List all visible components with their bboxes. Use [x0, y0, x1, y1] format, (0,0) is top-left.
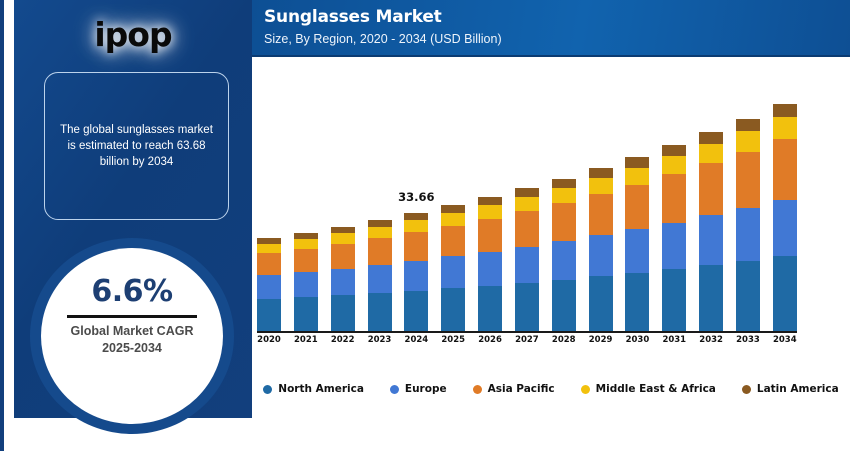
legend-color-dot	[581, 385, 590, 394]
bar-segment[interactable]	[404, 232, 428, 261]
x-axis-tick: 2032	[699, 335, 723, 345]
page-subtitle: Size, By Region, 2020 - 2034 (USD Billio…	[264, 32, 850, 46]
bar-segment[interactable]	[441, 213, 465, 226]
bar-segment[interactable]	[589, 168, 613, 178]
x-axis-tick: 2020	[257, 335, 281, 345]
bar-segment[interactable]	[368, 227, 392, 238]
bar-series-group: 33.66	[257, 80, 797, 331]
chart-header: Sunglasses Market Size, By Region, 2020 …	[252, 0, 850, 57]
bar-segment[interactable]	[699, 215, 723, 264]
bar-column[interactable]	[515, 80, 539, 331]
logo-text: ipop	[94, 15, 171, 54]
legend-color-dot	[473, 385, 482, 394]
bar-segment[interactable]	[773, 200, 797, 256]
bar-segment[interactable]	[699, 265, 723, 331]
legend-label: Middle East & Africa	[596, 383, 716, 395]
legend-item[interactable]: North America	[263, 383, 364, 395]
bar-segment[interactable]	[441, 205, 465, 213]
bar-segment[interactable]	[699, 144, 723, 163]
bar-column[interactable]	[625, 80, 649, 331]
bar-segment[interactable]	[368, 238, 392, 265]
legend-item[interactable]: Middle East & Africa	[581, 383, 716, 395]
legend-label: Asia Pacific	[488, 383, 555, 395]
bar-segment[interactable]	[515, 188, 539, 197]
bar-column[interactable]	[257, 80, 281, 331]
page-title: Sunglasses Market	[264, 7, 850, 27]
bar-segment[interactable]	[404, 220, 428, 232]
bar-segment[interactable]	[589, 178, 613, 194]
bar-segment[interactable]	[625, 157, 649, 167]
bar-segment[interactable]	[368, 293, 392, 331]
cagr-card: 6.6% Global Market CAGR 2025-2034	[41, 248, 223, 424]
bar-segment[interactable]	[404, 213, 428, 220]
bar-segment[interactable]	[331, 227, 355, 234]
bar-segment[interactable]	[257, 244, 281, 253]
bar-segment[interactable]	[368, 265, 392, 293]
bar-segment[interactable]	[441, 288, 465, 331]
bar-segment[interactable]	[773, 104, 797, 117]
bar-segment[interactable]	[552, 280, 576, 331]
bar-segment[interactable]	[294, 272, 318, 297]
bar-segment[interactable]	[331, 244, 355, 269]
legend-label: North America	[278, 383, 364, 395]
bar-segment[interactable]	[478, 219, 502, 252]
x-axis-tick: 2034	[773, 335, 797, 345]
callout-text: The global sunglasses market is estimate…	[55, 122, 218, 170]
infographic-root: ipop The global sunglasses market is est…	[0, 0, 850, 451]
bar-segment[interactable]	[478, 286, 502, 331]
bar-segment[interactable]	[625, 229, 649, 273]
legend-label: Latin America	[757, 383, 839, 395]
x-axis-tick: 2031	[662, 335, 686, 345]
bar-column[interactable]	[773, 80, 797, 331]
bar-segment[interactable]	[589, 235, 613, 276]
bar-segment[interactable]	[478, 205, 502, 218]
bar-column[interactable]	[441, 80, 465, 331]
legend-color-dot	[390, 385, 399, 394]
bar-segment[interactable]	[478, 197, 502, 205]
bar-segment[interactable]	[736, 261, 760, 331]
bar-segment[interactable]	[699, 163, 723, 215]
legend-item[interactable]: Asia Pacific	[473, 383, 555, 395]
bar-segment[interactable]	[773, 117, 797, 139]
legend-item[interactable]: Europe	[390, 383, 447, 395]
cagr-period: 2025-2034	[102, 341, 162, 355]
bar-segment[interactable]	[625, 168, 649, 185]
bar-segment[interactable]	[736, 152, 760, 208]
bar-segment[interactable]	[662, 145, 686, 156]
x-axis-tick: 2028	[552, 335, 576, 345]
bar-column[interactable]	[368, 80, 392, 331]
legend-color-dot	[742, 385, 751, 394]
bar-segment[interactable]	[625, 273, 649, 331]
bar-column[interactable]: 33.66	[404, 80, 428, 331]
bar-column[interactable]	[699, 80, 723, 331]
x-axis-tick: 2024	[404, 335, 428, 345]
bar-segment[interactable]	[773, 139, 797, 200]
bar-segment[interactable]	[552, 188, 576, 203]
x-axis-tick: 2027	[515, 335, 539, 345]
bar-column[interactable]	[736, 80, 760, 331]
bar-segment[interactable]	[736, 119, 760, 131]
x-axis-line	[257, 331, 797, 333]
bar-segment[interactable]	[662, 174, 686, 222]
bar-segment[interactable]	[736, 131, 760, 151]
chart-container: 33.66 2020202120222023202420252026202720…	[252, 57, 850, 418]
bar-column[interactable]	[552, 80, 576, 331]
bar-segment[interactable]	[552, 203, 576, 241]
bar-segment[interactable]	[736, 208, 760, 261]
bar-segment[interactable]	[699, 132, 723, 144]
bar-segment[interactable]	[257, 253, 281, 275]
left-accent-bar	[0, 0, 4, 451]
bar-segment[interactable]	[662, 269, 686, 331]
bar-segment[interactable]	[404, 291, 428, 331]
bar-segment[interactable]	[515, 211, 539, 247]
x-axis-tick: 2021	[294, 335, 318, 345]
bar-segment[interactable]	[625, 185, 649, 230]
callout-box: The global sunglasses market is estimate…	[44, 72, 229, 220]
x-axis-tick: 2033	[736, 335, 760, 345]
cagr-label: Global Market CAGR	[71, 324, 194, 338]
x-axis-tick: 2026	[478, 335, 502, 345]
bar-segment[interactable]	[441, 226, 465, 257]
chart-legend: North AmericaEuropeAsia PacificMiddle Ea…	[252, 383, 850, 395]
x-axis-tick: 2025	[441, 335, 465, 345]
bar-segment[interactable]	[552, 179, 576, 188]
bar-segment[interactable]	[368, 220, 392, 227]
bar-segment[interactable]	[515, 197, 539, 211]
bar-segment[interactable]	[441, 256, 465, 288]
bar-segment[interactable]	[331, 295, 355, 331]
bar-column[interactable]	[589, 80, 613, 331]
bar-segment[interactable]	[294, 239, 318, 249]
bar-segment[interactable]	[552, 241, 576, 279]
cagr-divider	[67, 315, 197, 318]
bar-value-label: 33.66	[398, 190, 434, 204]
bar-segment[interactable]	[294, 297, 318, 331]
bar-segment[interactable]	[257, 275, 281, 299]
bar-column[interactable]	[478, 80, 502, 331]
bar-segment[interactable]	[331, 269, 355, 296]
bar-segment[interactable]	[773, 256, 797, 331]
x-axis-tick: 2030	[625, 335, 649, 345]
x-axis-tick: 2023	[368, 335, 392, 345]
bar-segment[interactable]	[404, 261, 428, 291]
brand-logo: ipop	[14, 8, 252, 60]
bar-segment[interactable]	[478, 252, 502, 286]
bar-segment[interactable]	[589, 194, 613, 235]
bar-segment[interactable]	[515, 247, 539, 283]
bar-column[interactable]	[294, 80, 318, 331]
bar-column[interactable]	[331, 80, 355, 331]
bar-segment[interactable]	[331, 233, 355, 243]
legend-color-dot	[263, 385, 272, 394]
bar-segment[interactable]	[515, 283, 539, 331]
bar-segment[interactable]	[294, 249, 318, 272]
x-axis-tick: 2022	[331, 335, 355, 345]
legend-label: Europe	[405, 383, 447, 395]
cagr-value: 6.6%	[91, 274, 172, 309]
x-axis-tick: 2029	[589, 335, 613, 345]
legend-item[interactable]: Latin America	[742, 383, 839, 395]
bar-segment[interactable]	[662, 223, 686, 269]
bar-segment[interactable]	[257, 299, 281, 331]
bar-segment[interactable]	[589, 276, 613, 331]
bar-segment[interactable]	[662, 156, 686, 174]
bar-column[interactable]	[662, 80, 686, 331]
x-axis-tick-labels: 2020202120222023202420252026202720282029…	[257, 335, 797, 345]
